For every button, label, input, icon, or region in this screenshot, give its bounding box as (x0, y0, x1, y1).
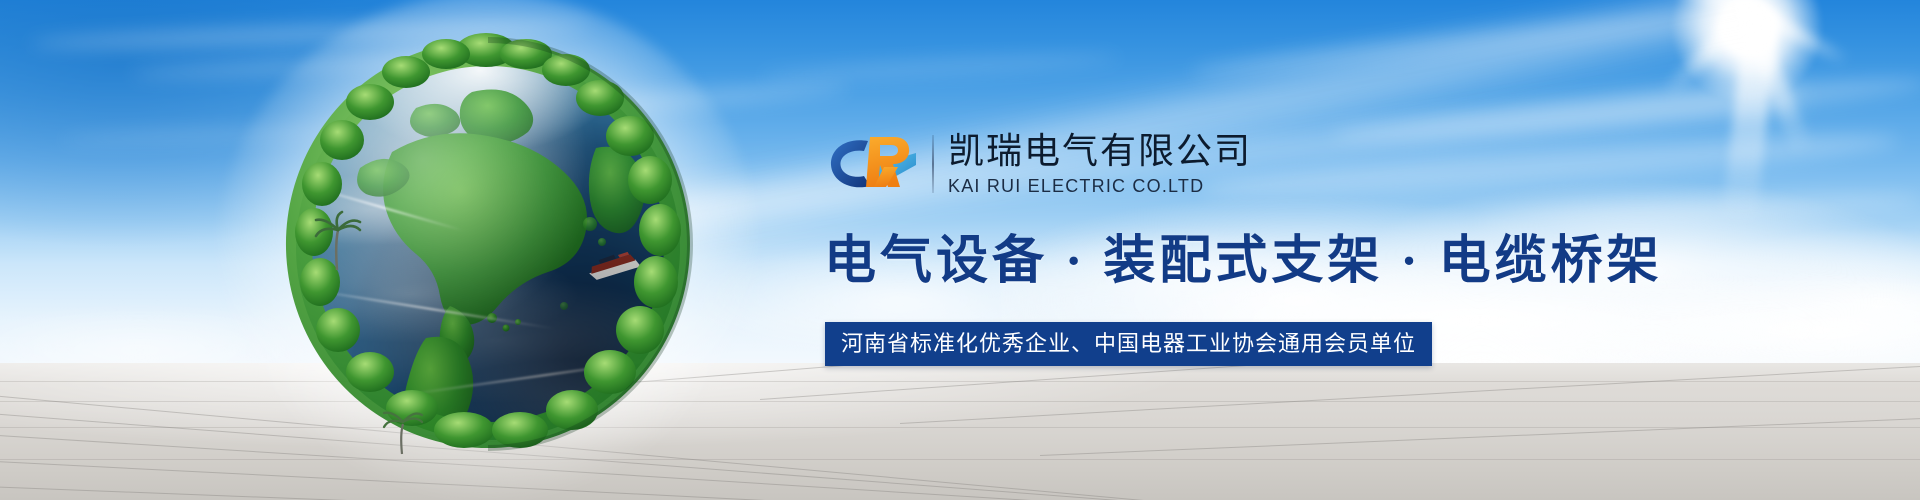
company-name-cn: 凯瑞电气有限公司 (948, 130, 1252, 172)
company-name-en: KAI RUI ELECTRIC CO.LTD (948, 174, 1252, 198)
credentials-ribbon: 河南省标准化优秀企业、中国电器工业协会通用会员单位 (825, 322, 1432, 366)
green-earth-globe (278, 32, 698, 462)
brand-divider (932, 135, 934, 193)
cr-monogram-logo-icon (828, 131, 920, 197)
palm-tree-icon (312, 208, 362, 272)
palm-tree-icon (380, 402, 424, 456)
brand-lockup: 凯瑞电气有限公司 KAI RUI ELECTRIC CO.LTD (828, 130, 1252, 198)
credentials-ribbon-text: 河南省标准化优秀企业、中国电器工业协会通用会员单位 (841, 322, 1416, 366)
main-tagline: 电气设备 · 装配式支架 · 电缆桥架 (824, 230, 1663, 294)
brand-names: 凯瑞电气有限公司 KAI RUI ELECTRIC CO.LTD (948, 130, 1252, 198)
hero-banner: 凯瑞电气有限公司 KAI RUI ELECTRIC CO.LTD 电气设备 · … (0, 0, 1920, 500)
